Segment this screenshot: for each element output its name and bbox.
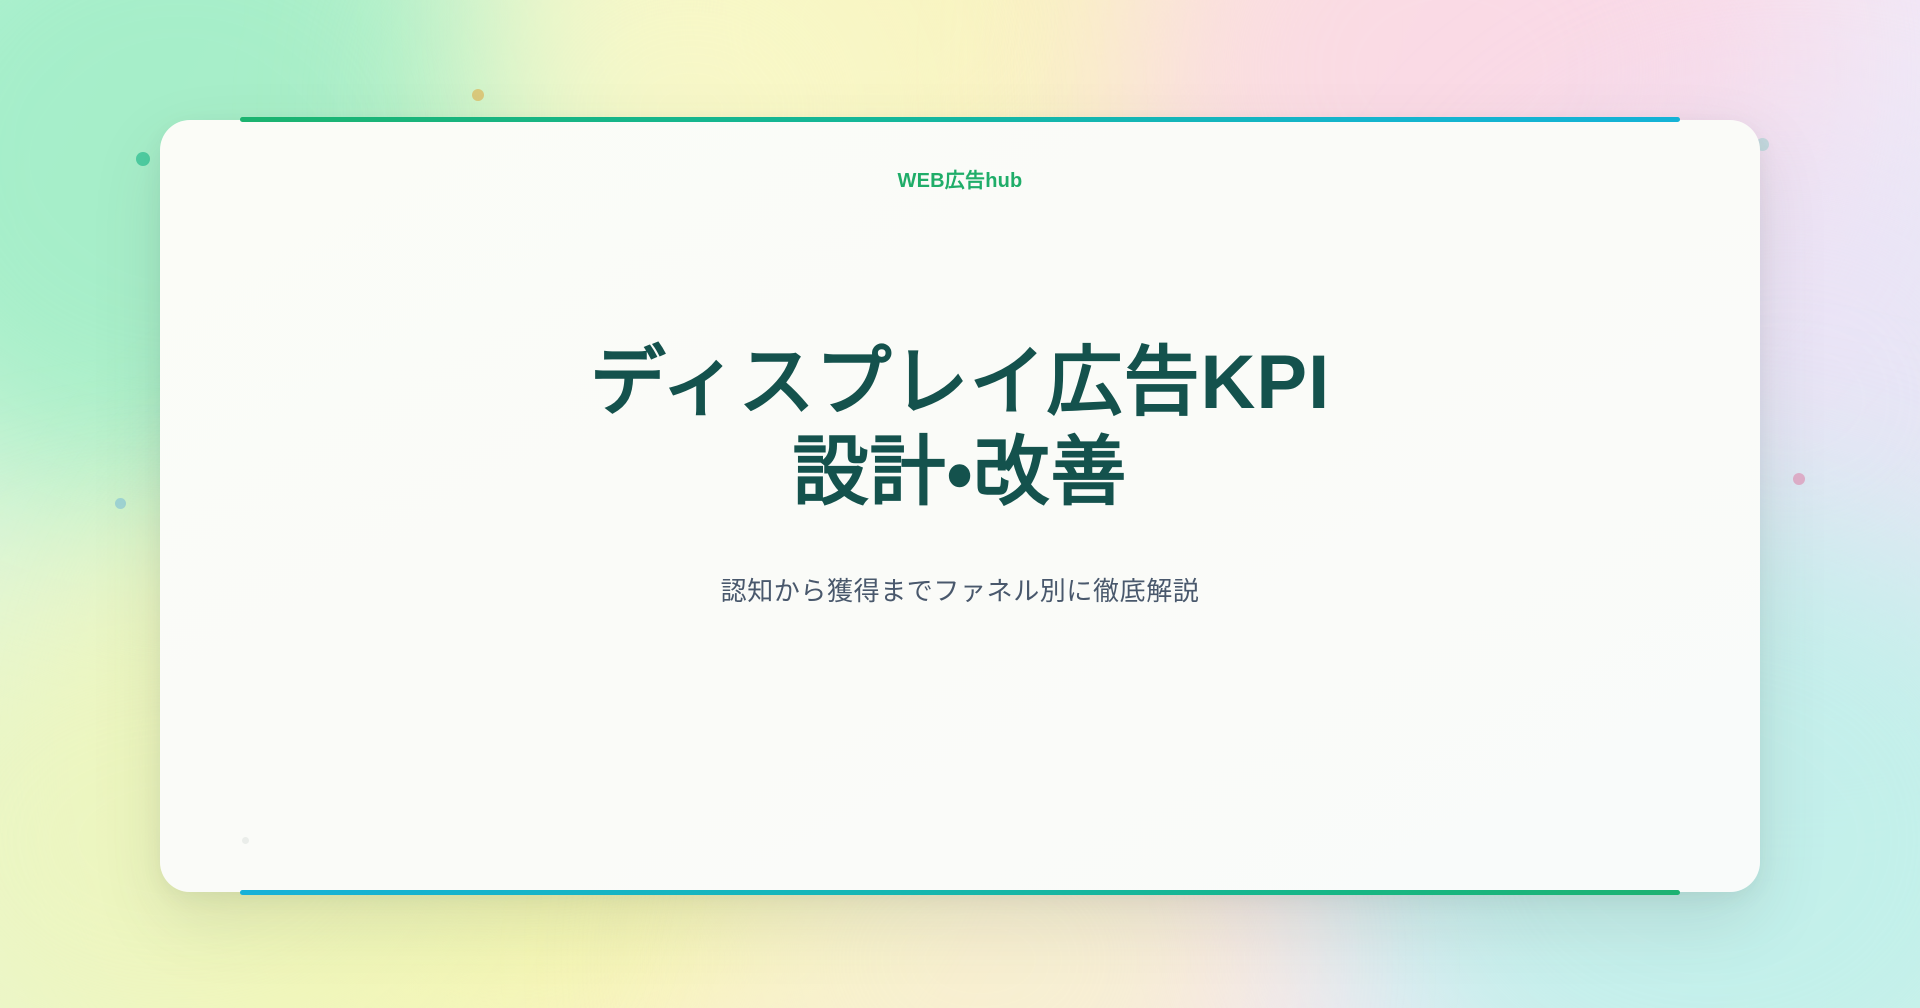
amber-dot xyxy=(472,89,484,101)
blue-dot xyxy=(115,498,126,509)
pink-dot xyxy=(1793,473,1805,485)
slide-subtitle: 認知から獲得までファネル別に徹底解説 xyxy=(160,571,1760,608)
title-block: ディスプレイ広告KPI設計・改善 認知から獲得までファネル別に徹底解説 xyxy=(160,338,1760,608)
slide-card: WEB広告hub ディスプレイ広告KPI設計・改善 認知から獲得までファネル別に… xyxy=(160,120,1760,892)
slide-content: WEB広告hub ディスプレイ広告KPI設計・改善 認知から獲得までファネル別に… xyxy=(160,120,1760,892)
page-title: ディスプレイ広告KPI設計・改善 xyxy=(580,338,1340,517)
brand-logo: WEB広告hub xyxy=(898,164,1023,193)
card-speck xyxy=(242,837,249,844)
teal-dot xyxy=(136,152,150,166)
